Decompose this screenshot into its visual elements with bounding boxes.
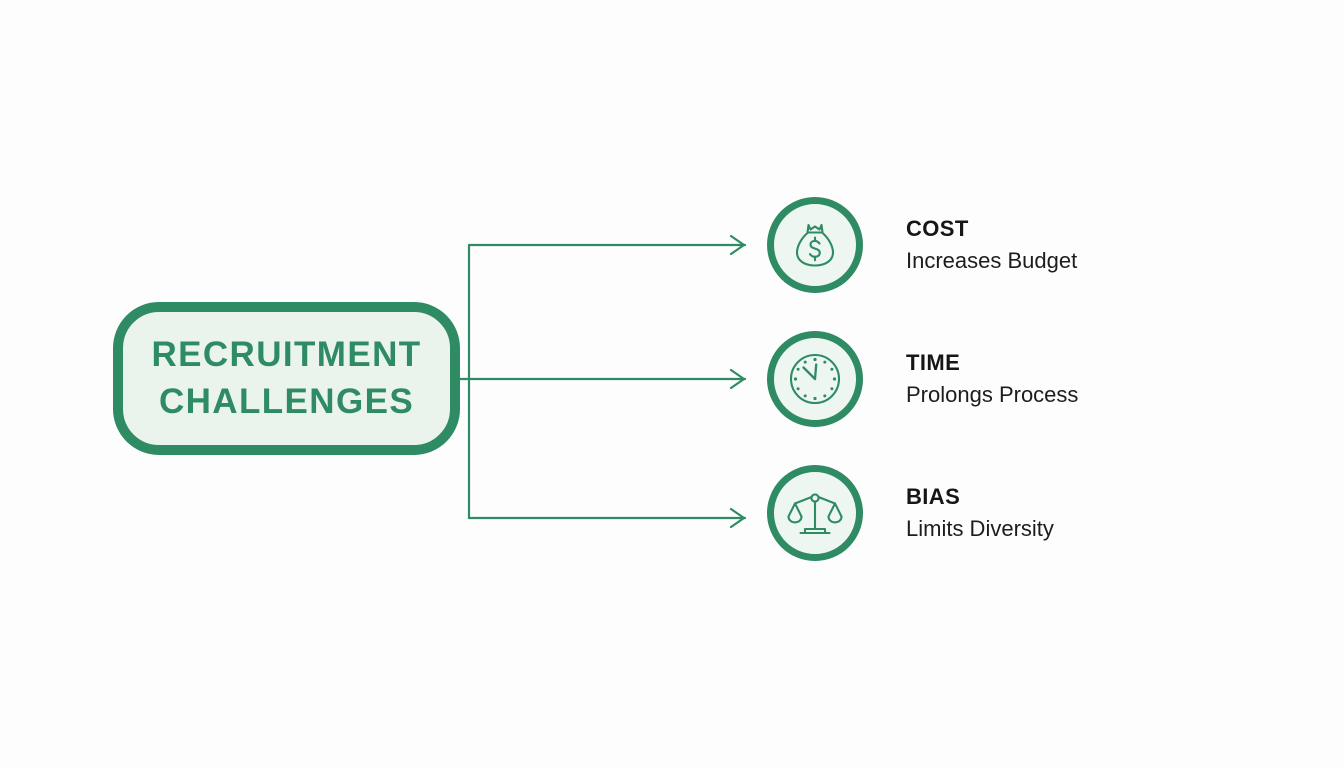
- branch-item-bias[interactable]: BIAS Limits Diversity: [767, 465, 1054, 561]
- diagram-canvas: RECRUITMENT CHALLENGES COST Increases Bu…: [0, 0, 1344, 768]
- branch-item-cost[interactable]: COST Increases Budget: [767, 197, 1077, 293]
- branch-text-time: TIME Prolongs Process: [906, 349, 1078, 410]
- branch-title-time: TIME: [906, 349, 1078, 377]
- branch-subtitle-time: Prolongs Process: [906, 380, 1078, 409]
- branch-title-cost: COST: [906, 215, 1077, 243]
- money-bag-icon: [767, 197, 863, 293]
- central-node-line-1: RECRUITMENT: [151, 332, 421, 378]
- central-node-line-2: CHALLENGES: [159, 379, 414, 425]
- branch-text-cost: COST Increases Budget: [906, 215, 1077, 276]
- branch-subtitle-cost: Increases Budget: [906, 246, 1077, 275]
- branch-title-bias: BIAS: [906, 483, 1054, 511]
- branch-subtitle-bias: Limits Diversity: [906, 514, 1054, 543]
- branch-item-time[interactable]: TIME Prolongs Process: [767, 331, 1078, 427]
- clock-icon: [767, 331, 863, 427]
- branch-text-bias: BIAS Limits Diversity: [906, 483, 1054, 544]
- central-node[interactable]: RECRUITMENT CHALLENGES: [113, 302, 460, 455]
- balance-scales-icon: [767, 465, 863, 561]
